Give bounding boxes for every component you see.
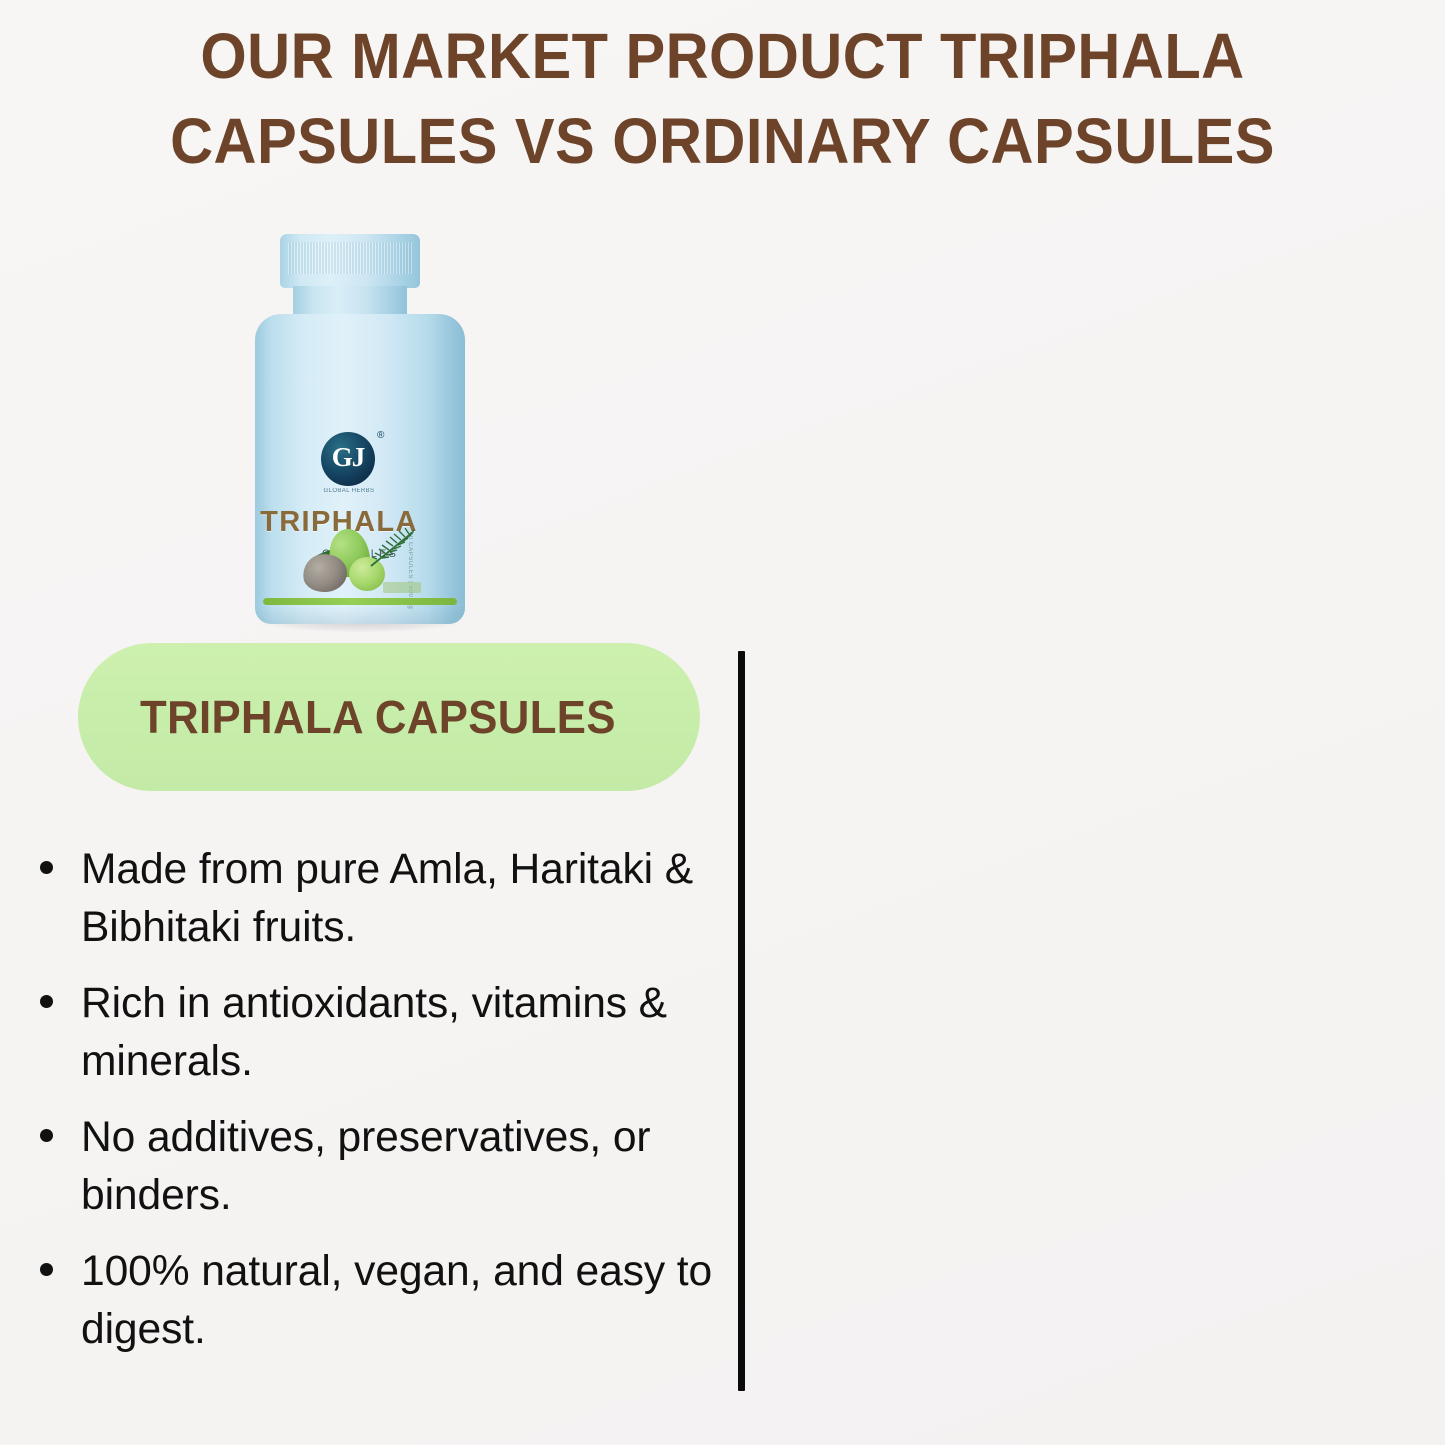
bullet-dot-icon [40, 1129, 53, 1142]
list-item: Made from pure Amla, Haritaki & Bibhitak… [40, 840, 730, 956]
gj-brand-logo-icon: GJ [321, 432, 375, 486]
badge-triphala-label: TRIPHALA CAPSULES [140, 690, 616, 744]
list-item: Rich in antioxidants, vitamins & mineral… [40, 974, 730, 1090]
bullet-dot-icon [40, 861, 53, 874]
list-item-label: Rich in antioxidants, vitamins & mineral… [81, 974, 724, 1090]
badge-triphala-capsules: TRIPHALA CAPSULES [78, 643, 700, 791]
list-item: 100% natural, vegan, and easy to digest. [40, 1242, 730, 1358]
bottle-cap [280, 234, 420, 288]
bottle-certification-badge [383, 582, 421, 593]
bullet-dot-icon [40, 1263, 53, 1276]
column-triphala: GJ ® GLOBAL HERBS TRIPHALA CAPSULES 60 C… [0, 0, 738, 1445]
list-item-label: Made from pure Amla, Haritaki & Bibhitak… [81, 840, 724, 956]
bullet-dot-icon [40, 995, 53, 1008]
infographic-canvas: OUR MARKET PRODUCT TRIPHALA CAPSULES VS … [0, 0, 1445, 1445]
column-ordinary: ORDINARY CAPSULES May contain diluted or… [745, 0, 1445, 1445]
triphala-bottle-image: GJ ® GLOBAL HERBS TRIPHALA CAPSULES 60 C… [255, 234, 465, 626]
benefits-list-triphala: Made from pure Amla, Haritaki & Bibhitak… [40, 840, 730, 1376]
brand-subtext: GLOBAL HERBS [317, 488, 381, 494]
list-item: No additives, preservatives, or binders. [40, 1108, 730, 1224]
column-divider [738, 651, 745, 1391]
registered-mark-icon: ® [377, 430, 384, 441]
bottle-green-stripe [263, 598, 457, 605]
gj-logo-text: GJ [332, 444, 365, 471]
list-item-label: 100% natural, vegan, and easy to digest. [81, 1242, 724, 1358]
bottle-body: GJ ® GLOBAL HERBS TRIPHALA CAPSULES 60 C… [255, 314, 465, 624]
list-item-label: No additives, preservatives, or binders. [81, 1108, 724, 1224]
fern-leaf-icon [361, 528, 417, 570]
